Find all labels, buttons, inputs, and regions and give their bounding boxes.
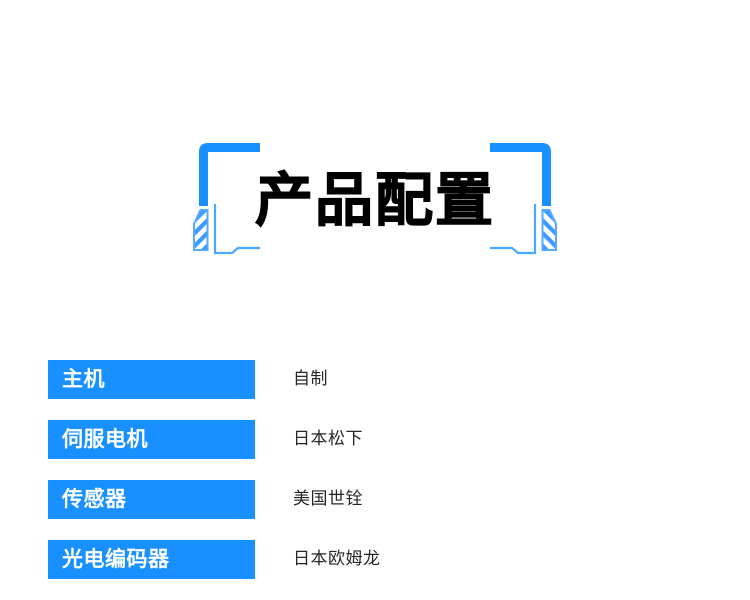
spec-value-text: 日本松下: [293, 420, 363, 459]
page-header: 产品配置: [0, 130, 750, 270]
table-row: 主机 自制: [0, 360, 750, 420]
spec-label-text: 主机: [62, 369, 105, 390]
spec-label-badge: 主机: [48, 360, 255, 399]
product-spec-table: 主机 自制 伺服电机 日本松下 传感器 美国世铨 光电编码器 日本欧姆龙: [0, 360, 750, 600]
spec-label-text: 传感器: [62, 489, 127, 510]
table-row: 传感器 美国世铨: [0, 480, 750, 540]
spec-value-text: 自制: [293, 360, 328, 399]
table-row: 伺服电机 日本松下: [0, 420, 750, 480]
spec-value-text: 美国世铨: [293, 480, 363, 519]
page-title: 产品配置: [0, 130, 750, 270]
spec-label-badge: 光电编码器: [48, 540, 255, 579]
spec-label-badge: 传感器: [48, 480, 255, 519]
spec-label-text: 光电编码器: [62, 549, 170, 570]
spec-label-badge: 伺服电机: [48, 420, 255, 459]
table-row: 光电编码器 日本欧姆龙: [0, 540, 750, 600]
spec-value-text: 日本欧姆龙: [293, 540, 381, 579]
spec-label-text: 伺服电机: [62, 429, 148, 450]
